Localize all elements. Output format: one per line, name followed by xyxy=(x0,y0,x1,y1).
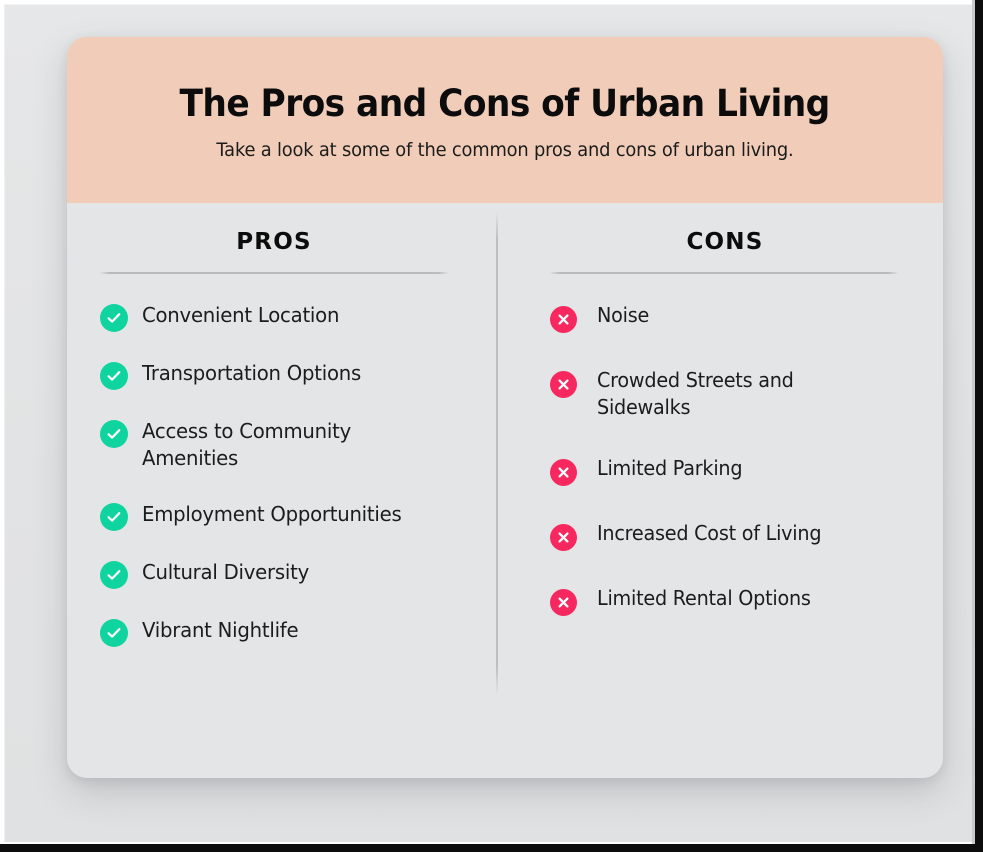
cons-list: Noise Crowded Streets and Sidewalks xyxy=(550,302,915,616)
pros-list: Convenient Location Transportation Optio… xyxy=(100,302,477,647)
x-circle-icon xyxy=(550,589,577,616)
page-subtitle: Take a look at some of the common pros a… xyxy=(216,139,793,161)
list-item-label: Limited Parking xyxy=(597,455,742,482)
cons-column-heading: CONS xyxy=(533,229,915,255)
check-circle-icon xyxy=(100,304,128,332)
list-item[interactable]: Cultural Diversity xyxy=(100,559,477,589)
list-item[interactable]: Transportation Options xyxy=(100,360,477,390)
card-body: PROS Convenient Location xyxy=(67,203,943,778)
x-circle-icon xyxy=(550,306,577,333)
list-item[interactable]: Convenient Location xyxy=(100,302,477,332)
list-item-label: Cultural Diversity xyxy=(142,559,309,586)
page-root: The Pros and Cons of Urban Living Take a… xyxy=(0,0,983,852)
list-item[interactable]: Noise xyxy=(550,302,915,333)
list-item[interactable]: Increased Cost of Living xyxy=(550,520,915,551)
list-item-label: Convenient Location xyxy=(142,302,339,329)
list-item-label: Access to Community Amenities xyxy=(142,418,399,473)
page-title: The Pros and Cons of Urban Living xyxy=(180,85,830,124)
check-circle-icon xyxy=(100,503,128,531)
viewport-surface: The Pros and Cons of Urban Living Take a… xyxy=(4,4,975,842)
list-item-label: Transportation Options xyxy=(142,360,361,387)
list-item[interactable]: Access to Community Amenities xyxy=(100,418,477,473)
check-circle-icon xyxy=(100,619,128,647)
x-circle-icon xyxy=(550,524,577,551)
list-item[interactable]: Employment Opportunities xyxy=(100,501,477,531)
x-circle-icon xyxy=(550,459,577,486)
window-frame-bottom xyxy=(0,844,983,852)
pros-and-cons-card: The Pros and Cons of Urban Living Take a… xyxy=(67,37,943,778)
list-item[interactable]: Crowded Streets and Sidewalks xyxy=(550,367,915,421)
card-header: The Pros and Cons of Urban Living Take a… xyxy=(67,37,943,203)
list-item-label: Vibrant Nightlife xyxy=(142,617,298,644)
cons-column: CONS Noise xyxy=(505,229,943,778)
pros-column-heading: PROS xyxy=(95,229,477,255)
list-item-label: Employment Opportunities xyxy=(142,501,402,528)
list-item-label: Noise xyxy=(597,302,649,329)
window-frame-right xyxy=(975,0,983,852)
list-item-label: Limited Rental Options xyxy=(597,585,811,612)
check-circle-icon xyxy=(100,362,128,390)
list-item[interactable]: Limited Parking xyxy=(550,455,915,486)
x-circle-icon xyxy=(550,371,577,398)
pros-column-rule xyxy=(99,272,449,274)
list-item-label: Increased Cost of Living xyxy=(597,520,821,547)
list-item[interactable]: Vibrant Nightlife xyxy=(100,617,477,647)
pros-column: PROS Convenient Location xyxy=(67,229,505,778)
check-circle-icon xyxy=(100,420,128,448)
list-item[interactable]: Limited Rental Options xyxy=(550,585,915,616)
check-circle-icon xyxy=(100,561,128,589)
cons-column-rule xyxy=(549,272,899,274)
list-item-label: Crowded Streets and Sidewalks xyxy=(597,367,849,421)
column-divider xyxy=(496,211,498,695)
